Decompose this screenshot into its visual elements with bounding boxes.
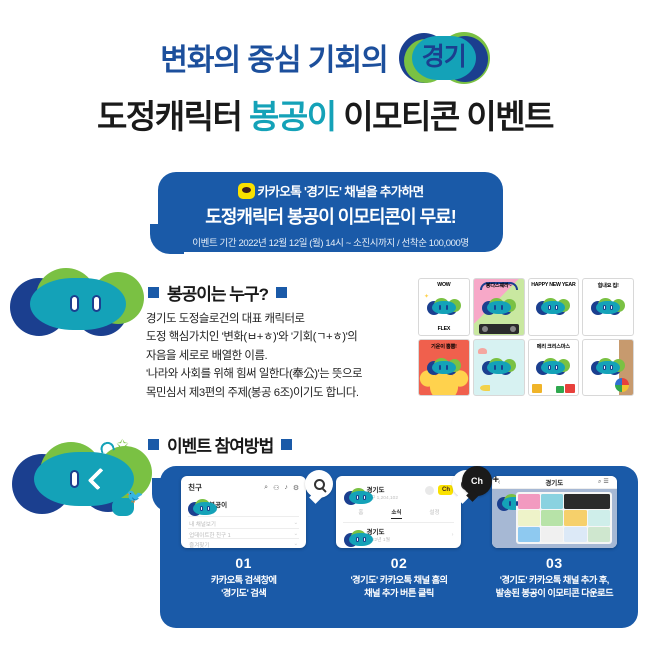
sticker-thumb <box>564 494 610 509</box>
sticker-caption-top: 힘내요 집! <box>583 282 633 289</box>
phone-mockup-channel-home: 경기도 친구 1,204,102 Ch 홈 소식 설정 <box>336 476 461 548</box>
search-icon[interactable]: ⌕ <box>264 484 268 492</box>
gift-icon <box>532 384 542 393</box>
title-suffix: 이모티콘 이벤트 <box>336 98 553 135</box>
dj-deck-icon <box>479 324 519 334</box>
divider <box>343 522 454 523</box>
chat-title: 경기도 <box>545 477 563 487</box>
search-callout-bubble <box>305 470 333 498</box>
mascot-mini-icon <box>427 357 461 377</box>
step-number: 02 <box>391 555 408 571</box>
tab-news[interactable]: 소식 <box>391 508 401 519</box>
phone-mockup-chat-stickers: ‹ 경기도 ⌕☰ <box>492 476 617 548</box>
sticker-item: 힘내요 집! <box>582 278 634 336</box>
promo-banner: 카카오톡 '경기도' 채널을 추가하면 도정캐릭터 봉공이 이모티콘이 무료! … <box>158 172 503 252</box>
star-icon: ✩ <box>116 436 129 454</box>
friends-header-icons: ⌕ ⚇ ♪ ⚙ <box>264 484 299 492</box>
gyeonggi-logo-icon: 경기 <box>398 30 490 86</box>
sticker-caption-top: WOW <box>419 282 469 288</box>
fish-icon <box>480 385 490 391</box>
gyeonggi-logo-label: 경기 <box>398 30 490 86</box>
who-line: 경기도 도정슬로건의 대표 캐릭터로 <box>146 310 408 328</box>
step-number: 01 <box>235 555 252 571</box>
section-heading-who: 봉공이는 누구? <box>148 280 287 305</box>
step-caption: '경기도' 카카오톡 채널 홈의 채널 추가 버튼 클릭 <box>346 574 451 601</box>
list-item[interactable]: 즐겨찾기 <box>189 541 209 548</box>
step-caption-line: '경기도' 카카오톡 채널 홈의 <box>350 574 447 587</box>
who-description: 경기도 도정슬로건의 대표 캐릭터로 도정 핵심가치인 '변화(ㅂ+ㅎ)'와 '… <box>146 310 408 402</box>
crab-icon <box>478 348 487 354</box>
mascot-mini-icon <box>482 297 516 317</box>
step-caption-line: 발송된 봉공이 이모티콘 다운로드 <box>496 587 614 600</box>
music-icon[interactable]: ♪ <box>284 484 288 491</box>
sticker-caption-top: 봉다스웨라~ <box>474 282 524 289</box>
sticker-thumb <box>588 527 610 542</box>
gift-icon <box>565 384 575 393</box>
mascot-mini-icon <box>482 357 516 377</box>
more-icon[interactable] <box>425 486 434 495</box>
mascot-mini-icon <box>591 297 625 317</box>
add-friend-icon[interactable]: ⚇ <box>273 484 279 492</box>
divider <box>188 528 299 529</box>
steps-container: 친구 ⌕ ⚇ ♪ ⚙ 봉공이 <box>160 466 638 628</box>
bonggongi-mascot-waving-icon: ✩ 🐦 <box>8 432 163 536</box>
chevron-down-icon[interactable]: ⌄ <box>294 531 299 537</box>
banner-headline: 도정캐릭터 봉공이 이모티콘이 무료! <box>158 203 503 229</box>
bonggongi-mascot-icon <box>8 262 146 358</box>
who-line: '나라와 사회를 위해 힘써 일한다(奉公)'는 뜻으로 <box>146 365 408 383</box>
title-character-name: 봉공이 <box>249 98 336 135</box>
sticker-thumb <box>541 510 563 525</box>
sticker-caption-bottom: FLEX <box>419 326 469 332</box>
step-caption-line: 카카오톡 검색창에 <box>211 574 277 587</box>
how-to-panel: 친구 ⌕ ⚇ ♪ ⚙ 봉공이 <box>160 466 638 628</box>
sticker-thumb <box>588 510 610 525</box>
menu-icon[interactable]: ☰ <box>603 479 610 485</box>
channel-tabs: 홈 소식 설정 <box>344 508 453 519</box>
step-caption: 카카오톡 검색창에 '경기도' 검색 <box>207 574 281 601</box>
sticker-item: 메리 크리스마스 <box>528 339 580 397</box>
divider <box>188 516 299 517</box>
sticker-caption-top: 메리 크리스마스 <box>529 343 579 350</box>
bird-icon: 🐦 <box>126 488 143 505</box>
sticker-item <box>582 339 634 397</box>
sticker-thumb <box>541 527 563 542</box>
step-01: 친구 ⌕ ⚇ ♪ ⚙ 봉공이 <box>166 466 321 628</box>
chat-header-icons: ⌕☰ <box>598 478 611 486</box>
step-caption-line: '경기도' 검색 <box>211 587 277 600</box>
tab-settings[interactable]: 설정 <box>429 508 439 519</box>
sticker-caption-top: HAPPY NEW YEAR <box>529 282 579 288</box>
plus-icon: + <box>493 474 499 486</box>
avatar <box>188 498 204 509</box>
page-title: 변화의 중심 기회의 경기 도정캐릭터 봉공이 이모티콘 이벤트 <box>0 30 650 136</box>
avatar <box>344 487 361 499</box>
banner-row-1: 카카오톡 '경기도' 채널을 추가하면 <box>158 181 503 200</box>
promo-page: 변화의 중심 기회의 경기 도정캐릭터 봉공이 이모티콘 이벤트 카카오톡 '경… <box>0 0 650 650</box>
who-line: 목민심서 제3편의 주제(봉공 6조)이기도 합니다. <box>146 384 408 402</box>
search-icon <box>314 479 325 490</box>
title-line-2: 도정캐릭터 봉공이 이모티콘 이벤트 <box>0 98 650 136</box>
title-line-1: 변화의 중심 기회의 경기 <box>0 30 650 86</box>
sticker-thumb <box>518 527 540 542</box>
channel-add-icon: Ch <box>471 476 483 486</box>
beach-ball-icon <box>615 378 629 392</box>
step-number: 03 <box>546 555 563 571</box>
title-prefix: 도정캐릭터 <box>97 98 249 135</box>
chat-body <box>492 489 617 548</box>
section-heading-how-label: 이벤트 참여방법 <box>167 432 273 457</box>
settings-icon[interactable]: ⚙ <box>293 484 299 492</box>
square-bullet-icon <box>276 287 287 298</box>
mascot-mini-icon <box>536 357 570 377</box>
square-bullet-icon <box>148 287 159 298</box>
step-caption-line: '경기도' 카카오톡 채널 추가 후, <box>496 574 614 587</box>
channel-post-row[interactable]: 경기도 2022년 1월 <box>344 526 390 543</box>
step-caption-line: 채널 추가 버튼 클릭 <box>350 587 447 600</box>
channel-add-callout-bubble: Ch + <box>462 466 492 496</box>
mascot-mini-icon <box>427 297 461 317</box>
step-caption: '경기도' 카카오톡 채널 추가 후, 발송된 봉공이 이모티콘 다운로드 <box>492 574 618 601</box>
who-line: 자음을 세로로 배열한 이름. <box>146 347 408 365</box>
friend-row[interactable]: 봉공이 <box>188 498 227 509</box>
friends-title: 친구 <box>188 482 202 493</box>
square-bullet-icon <box>281 439 292 450</box>
gift-icon <box>556 386 564 393</box>
sticker-thumb <box>518 510 540 525</box>
sticker-message-card[interactable] <box>516 492 612 544</box>
sticker-item: 봉다스웨라~ <box>473 278 525 336</box>
title-slogan: 변화의 중심 기회의 <box>160 44 387 77</box>
sticker-item <box>473 339 525 397</box>
sticker-thumb <box>541 494 563 509</box>
chevron-right-icon[interactable]: › <box>452 532 454 538</box>
sticker-item: HAPPY NEW YEAR <box>528 278 580 336</box>
divider <box>188 538 299 539</box>
list-item[interactable]: 내 채널보기 <box>189 520 216 528</box>
chevron-down-icon[interactable]: ⌄ <box>294 520 299 526</box>
section-heading-who-label: 봉공이는 누구? <box>167 280 268 305</box>
banner-period: 이벤트 기간 2022년 12월 12일 (월) 14시 ~ 소진시까지 / 선… <box>158 235 503 249</box>
avatar <box>344 529 361 541</box>
sticker-thumb <box>518 494 540 509</box>
section-heading-how: 이벤트 참여방법 <box>148 432 292 457</box>
sticker-card-grid <box>518 494 610 542</box>
channel-header: 경기도 친구 1,204,102 <box>344 484 398 501</box>
channel-actions: Ch <box>425 485 453 495</box>
banner-subtitle: 카카오톡 '경기도' 채널을 추가하면 <box>258 181 424 200</box>
chat-header: ‹ 경기도 ⌕☰ <box>492 476 617 489</box>
mascot-mini-icon <box>536 297 570 317</box>
channel-name: 경기도 <box>366 484 398 494</box>
avatar <box>497 493 513 504</box>
sticker-caption-top: 기운이 뿜뿜! <box>419 343 469 350</box>
who-line: 도정 핵심가치인 '변화(ㅂ+ㅎ)'와 '기회(ㄱ+ㅎ)'의 <box>146 328 408 346</box>
phone-mockup-friends-list: 친구 ⌕ ⚇ ♪ ⚙ 봉공이 <box>181 476 306 548</box>
step-03: ‹ 경기도 ⌕☰ <box>477 466 632 628</box>
sticker-item: 기운이 뿜뿜! <box>418 339 470 397</box>
kakaotalk-icon <box>238 183 255 199</box>
mascot-mini-icon <box>591 357 625 377</box>
emoticon-preview-grid: WOW FLEX ✦ 봉다스웨라~ HAPPY NEW YEAR <box>418 278 634 396</box>
square-bullet-icon <box>148 439 159 450</box>
tab-home[interactable]: 홈 <box>358 508 363 519</box>
chevron-down-icon[interactable]: ⌄ <box>294 541 299 547</box>
sticker-thumb <box>564 510 586 525</box>
friends-header: 친구 ⌕ ⚇ ♪ ⚙ <box>188 482 299 493</box>
sticker-item: WOW FLEX ✦ <box>418 278 470 336</box>
sticker-thumb <box>564 527 586 542</box>
